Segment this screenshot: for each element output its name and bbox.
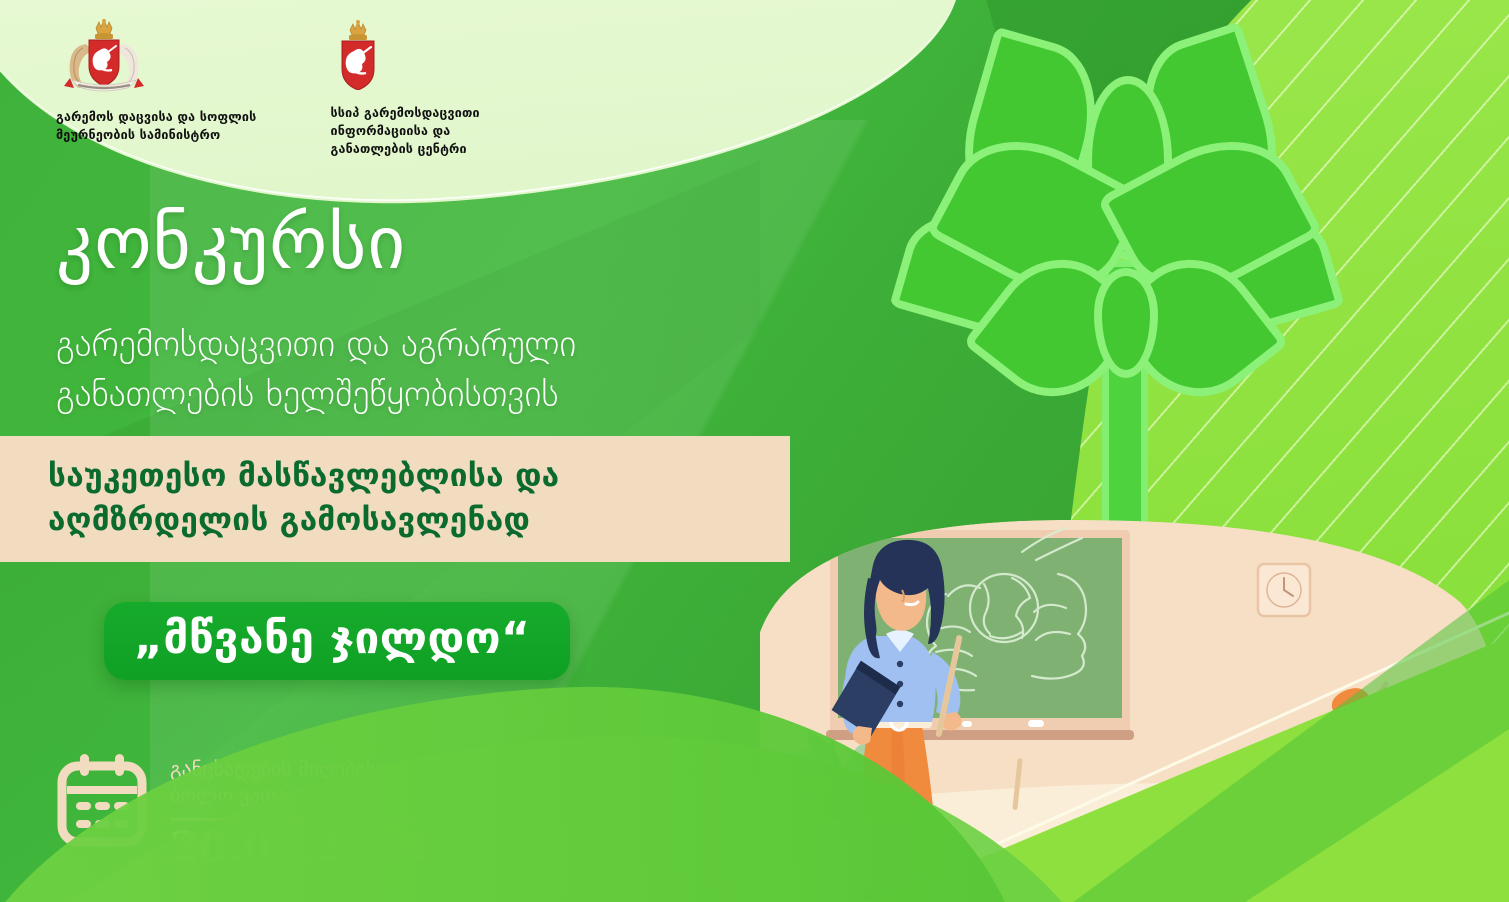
page-title: კონკურსი bbox=[56, 207, 406, 280]
subtitle: გარემოსდაცვითი და აგრარული განათლების ხე… bbox=[56, 320, 776, 419]
subtitle-line-2: განათლების ხელშეწყობისთვის bbox=[56, 370, 776, 420]
award-name-badge[interactable]: „მწვანე ჯილდო“ bbox=[104, 602, 570, 680]
georgia-coat-of-arms-icon bbox=[56, 18, 152, 98]
ministry-logo-caption: გარემოს დაცვისა და სოფლის მეურნეობის სამ… bbox=[56, 108, 256, 144]
award-name-label: „მწვანე ჯილდო“ bbox=[134, 613, 530, 664]
ministry-logo-block: გარემოს დაცვისა და სოფლის მეურნეობის სამ… bbox=[56, 18, 256, 144]
center-logo-caption: სსიპ გარემოსდაცვითი ინფორმაციისა და განა… bbox=[330, 104, 479, 158]
highlight-band-line-1: საუკეთესო მასწავლებლისა და bbox=[48, 454, 790, 498]
highlight-band: საუკეთესო მასწავლებლისა და აღმზრდელის გა… bbox=[0, 436, 790, 562]
center-logo-block: სსიპ გარემოსდაცვითი ინფორმაციისა და განა… bbox=[330, 18, 479, 158]
stylized-leaf-tree bbox=[880, 10, 1350, 570]
logo-row: გარემოს დაცვისა და სოფლის მეურნეობის სამ… bbox=[56, 18, 480, 158]
georgia-shield-crown-icon bbox=[330, 18, 386, 94]
highlight-band-line-2: აღმზრდელის გამოსავლენად bbox=[48, 498, 790, 542]
subtitle-line-1: გარემოსდაცვითი და აგრარული bbox=[56, 320, 776, 370]
banner-root: გარემოს დაცვისა და სოფლის მეურნეობის სამ… bbox=[0, 0, 1509, 902]
